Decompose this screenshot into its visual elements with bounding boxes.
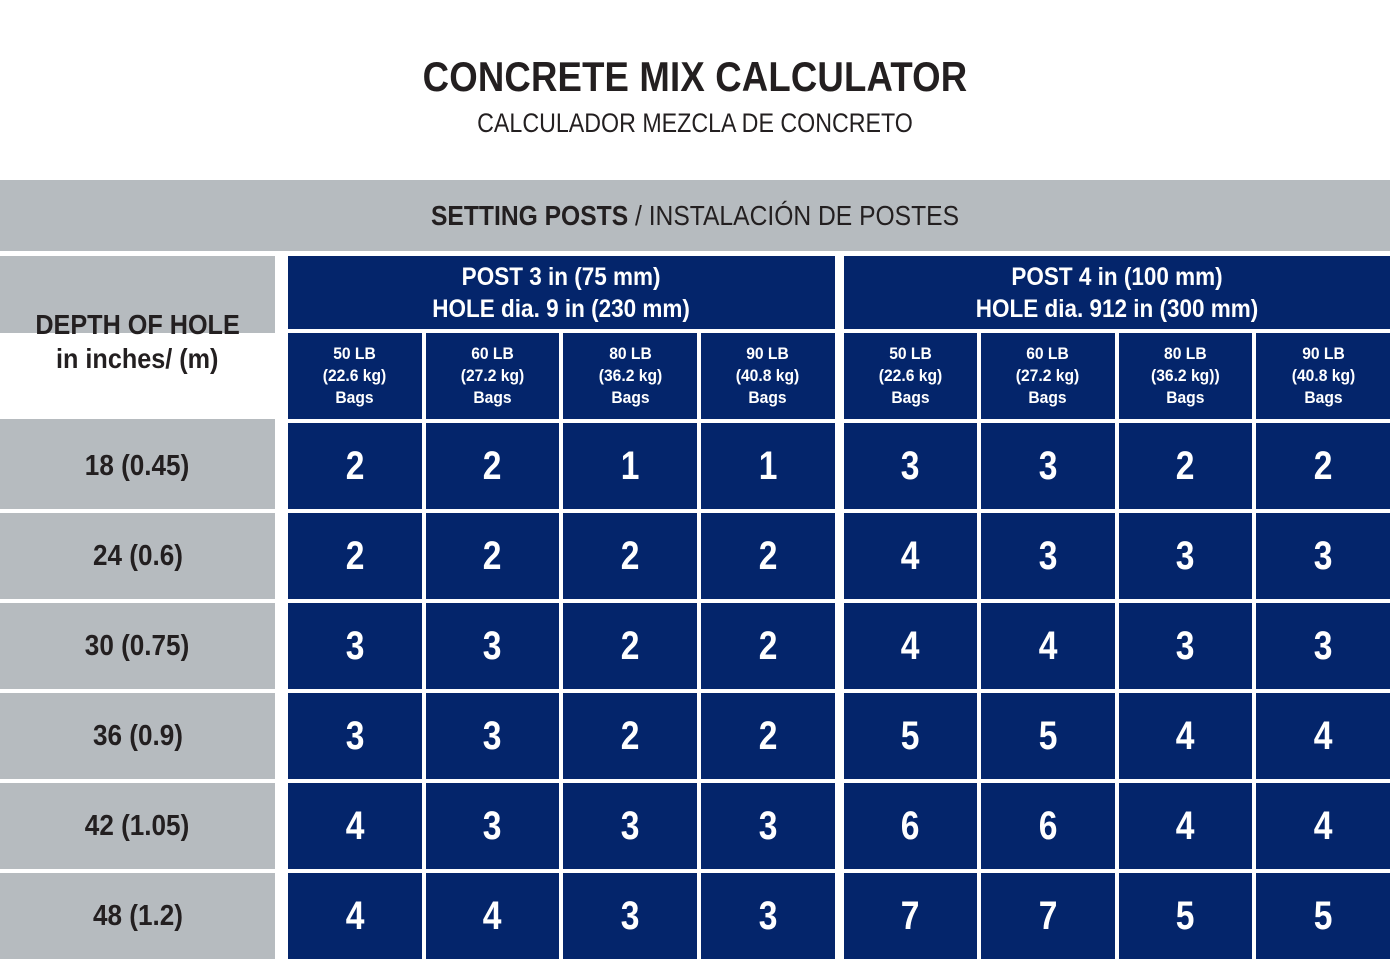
posts-table: DEPTH OF HOLE in inches/ (m) POST 3 in (…	[0, 256, 1390, 963]
group-post4-title-line1: POST 4 in (100 mm)	[975, 261, 1258, 293]
column-header-post4-60lb-unit: Bags	[1016, 387, 1079, 409]
group-title-container: POST 3 in (75 mm) HOLE dia. 9 in (230 mm…	[275, 256, 1390, 329]
table-row: 24 (0.6) 2 2 2 2 4 3 3 3	[0, 513, 1390, 599]
row-48-post3: 4 4 3 3	[288, 873, 835, 959]
group-post3-bag-headers: 50 LB (22.6 kg) Bags 60 LB (27.2 kg) Bag…	[288, 333, 835, 419]
concrete-mix-calculator-page: CONCRETE MIX CALCULATOR CALCULADOR MEZCL…	[0, 0, 1390, 966]
cell-42-post3-90lb: 3	[701, 783, 835, 869]
page-header: CONCRETE MIX CALCULATOR CALCULADOR MEZCL…	[0, 0, 1390, 137]
table-row: 18 (0.45) 2 2 1 1 3 3 2 2	[0, 423, 1390, 509]
column-header-post4-90lb-unit: Bags	[1291, 387, 1354, 409]
cell-24-post4-90lb: 3	[1256, 513, 1390, 599]
column-header-post3-90lb-unit: Bags	[736, 387, 799, 409]
column-header-post3-80lb-metric: (36.2 kg)	[598, 365, 661, 387]
page-title: CONCRETE MIX CALCULATOR	[90, 56, 1299, 98]
column-header-post4-80lb-unit: Bags	[1151, 387, 1220, 409]
cell-30-post4-60lb: 4	[981, 603, 1115, 689]
cell-18-post3-80lb: 1	[563, 423, 697, 509]
cell-24-post3-80lb: 2	[563, 513, 697, 599]
column-header-post3-80lb-unit: Bags	[598, 387, 661, 409]
row-label-18: 18 (0.45)	[0, 423, 275, 509]
table-row: 48 (1.2) 4 4 3 3 7 7 5 5	[0, 873, 1390, 959]
section-title-es: INSTALACIÓN DE POSTES	[649, 200, 959, 231]
cell-48-post3-90lb: 3	[701, 873, 835, 959]
cell-36-post4-80lb: 4	[1119, 693, 1253, 779]
cell-42-post4-50lb: 6	[844, 783, 978, 869]
cell-48-post4-90lb: 5	[1256, 873, 1390, 959]
column-header-post3-50lb: 50 LB (22.6 kg) Bags	[288, 333, 422, 419]
cell-48-post4-60lb: 7	[981, 873, 1115, 959]
column-header-post3-50lb-weight: 50 LB	[323, 343, 386, 365]
row-48-post4: 7 7 5 5	[844, 873, 1390, 959]
row-36-post3: 3 3 2 2	[288, 693, 835, 779]
cell-30-post3-80lb: 2	[563, 603, 697, 689]
cell-18-post4-80lb: 2	[1119, 423, 1253, 509]
row-24-post3: 2 2 2 2	[288, 513, 835, 599]
stub-header-line2: in inches/ (m)	[56, 342, 218, 376]
row-cells-42: 4 3 3 3 6 6 4 4	[275, 783, 1390, 869]
row-36-post4: 5 5 4 4	[844, 693, 1390, 779]
cell-42-post3-50lb: 4	[288, 783, 422, 869]
row-42-post3: 4 3 3 3	[288, 783, 835, 869]
row-label-36: 36 (0.9)	[0, 693, 275, 779]
cell-24-post4-50lb: 4	[844, 513, 978, 599]
group-post3-title-line1: POST 3 in (75 mm)	[432, 261, 690, 293]
group-post3-title: POST 3 in (75 mm) HOLE dia. 9 in (230 mm…	[432, 261, 690, 325]
table-row: 36 (0.9) 3 3 2 2 5 5 4 4	[0, 693, 1390, 779]
column-header-post3-50lb-metric: (22.6 kg)	[323, 365, 386, 387]
column-header-post3-80lb-weight: 80 LB	[598, 343, 661, 365]
column-header-post4-90lb: 90 LB (40.8 kg) Bags	[1256, 333, 1390, 419]
cell-18-post3-90lb: 1	[701, 423, 835, 509]
group-post3-title-line2: HOLE dia. 9 in (230 mm)	[432, 293, 690, 325]
cell-30-post3-60lb: 3	[426, 603, 560, 689]
column-header-post4-90lb-metric: (40.8 kg)	[1291, 365, 1354, 387]
cell-48-post3-60lb: 4	[426, 873, 560, 959]
column-header-post4-50lb: 50 LB (22.6 kg) Bags	[844, 333, 978, 419]
column-header-post4-90lb-weight: 90 LB	[1291, 343, 1354, 365]
cell-18-post4-90lb: 2	[1256, 423, 1390, 509]
cell-36-post4-60lb: 5	[981, 693, 1115, 779]
column-header-post4-60lb: 60 LB (27.2 kg) Bags	[981, 333, 1115, 419]
cell-30-post4-80lb: 3	[1119, 603, 1253, 689]
section-title-separator: /	[628, 200, 649, 231]
row-18-post3: 2 2 1 1	[288, 423, 835, 509]
stub-header-line1: DEPTH OF HOLE	[35, 308, 239, 342]
cell-36-post3-90lb: 2	[701, 693, 835, 779]
column-header-post3-80lb: 80 LB (36.2 kg) Bags	[563, 333, 697, 419]
column-header-post4-80lb: 80 LB (36.2 kg)) Bags	[1119, 333, 1253, 419]
cell-48-post3-80lb: 3	[563, 873, 697, 959]
cell-36-post3-60lb: 3	[426, 693, 560, 779]
cell-42-post4-90lb: 4	[1256, 783, 1390, 869]
cell-30-post4-50lb: 4	[844, 603, 978, 689]
cell-42-post3-60lb: 3	[426, 783, 560, 869]
column-header-post3-60lb: 60 LB (27.2 kg) Bags	[426, 333, 560, 419]
group-post4: POST 4 in (100 mm) HOLE dia. 912 in (300…	[844, 256, 1390, 329]
row-42-post4: 6 6 4 4	[844, 783, 1390, 869]
cell-30-post3-50lb: 3	[288, 603, 422, 689]
column-header-post4-80lb-metric: (36.2 kg))	[1151, 365, 1220, 387]
row-cells-24: 2 2 2 2 4 3 3 3	[275, 513, 1390, 599]
column-header-post4-50lb-unit: Bags	[879, 387, 942, 409]
row-18-post4: 3 3 2 2	[844, 423, 1390, 509]
cell-18-post4-50lb: 3	[844, 423, 978, 509]
column-header-post3-60lb-metric: (27.2 kg)	[461, 365, 524, 387]
cell-42-post4-60lb: 6	[981, 783, 1115, 869]
row-label-24: 24 (0.6)	[0, 513, 275, 599]
cell-48-post4-80lb: 5	[1119, 873, 1253, 959]
cell-18-post3-50lb: 2	[288, 423, 422, 509]
column-header-post3-90lb-weight: 90 LB	[736, 343, 799, 365]
row-30-post4: 4 4 3 3	[844, 603, 1390, 689]
row-label-42: 42 (1.05)	[0, 783, 275, 869]
section-band: SETTING POSTS / INSTALACIÓN DE POSTES	[0, 180, 1390, 251]
page-subtitle: CALCULADOR MEZCLA DE CONCRETO	[97, 110, 1292, 137]
column-header-post4-60lb-metric: (27.2 kg)	[1016, 365, 1079, 387]
column-header-post3-90lb: 90 LB (40.8 kg) Bags	[701, 333, 835, 419]
column-header-post3-60lb-unit: Bags	[461, 387, 524, 409]
column-header-post3-90lb-metric: (40.8 kg)	[736, 365, 799, 387]
table-group-header-row: DEPTH OF HOLE in inches/ (m) POST 3 in (…	[0, 256, 1390, 329]
cell-24-post3-60lb: 2	[426, 513, 560, 599]
group-post4-bag-headers: 50 LB (22.6 kg) Bags 60 LB (27.2 kg) Bag…	[844, 333, 1390, 419]
column-header-post3-50lb-unit: Bags	[323, 387, 386, 409]
cell-24-post4-60lb: 3	[981, 513, 1115, 599]
row-cells-48: 4 4 3 3 7 7 5 5	[275, 873, 1390, 959]
cell-18-post4-60lb: 3	[981, 423, 1115, 509]
cell-24-post4-80lb: 3	[1119, 513, 1253, 599]
column-header-post3-60lb-weight: 60 LB	[461, 343, 524, 365]
cell-36-post4-50lb: 5	[844, 693, 978, 779]
cell-18-post3-60lb: 2	[426, 423, 560, 509]
row-24-post4: 4 3 3 3	[844, 513, 1390, 599]
section-title-en: SETTING POSTS	[431, 200, 628, 231]
cell-36-post4-90lb: 4	[1256, 693, 1390, 779]
row-label-30: 30 (0.75)	[0, 603, 275, 689]
cell-24-post3-90lb: 2	[701, 513, 835, 599]
row-30-post3: 3 3 2 2	[288, 603, 835, 689]
row-cells-30: 3 3 2 2 4 4 3 3	[275, 603, 1390, 689]
column-header-post4-50lb-metric: (22.6 kg)	[879, 365, 942, 387]
bag-header-container: 50 LB (22.6 kg) Bags 60 LB (27.2 kg) Bag…	[275, 333, 1390, 419]
cell-30-post3-90lb: 2	[701, 603, 835, 689]
table-row: 30 (0.75) 3 3 2 2 4 4 3 3	[0, 603, 1390, 689]
group-post3: POST 3 in (75 mm) HOLE dia. 9 in (230 mm…	[288, 256, 835, 329]
cell-42-post3-80lb: 3	[563, 783, 697, 869]
column-header-post4-50lb-weight: 50 LB	[879, 343, 942, 365]
cell-36-post3-80lb: 2	[563, 693, 697, 779]
group-post4-title: POST 4 in (100 mm) HOLE dia. 912 in (300…	[975, 261, 1258, 325]
cell-36-post3-50lb: 3	[288, 693, 422, 779]
row-cells-36: 3 3 2 2 5 5 4 4	[275, 693, 1390, 779]
cell-30-post4-90lb: 3	[1256, 603, 1390, 689]
column-header-post4-60lb-weight: 60 LB	[1016, 343, 1079, 365]
column-header-post4-80lb-weight: 80 LB	[1151, 343, 1220, 365]
group-post4-title-cell: POST 4 in (100 mm) HOLE dia. 912 in (300…	[844, 256, 1390, 329]
row-label-48: 48 (1.2)	[0, 873, 275, 959]
table-row: 42 (1.05) 4 3 3 3 6 6 4 4	[0, 783, 1390, 869]
cell-42-post4-80lb: 4	[1119, 783, 1253, 869]
group-post3-title-cell: POST 3 in (75 mm) HOLE dia. 9 in (230 mm…	[288, 256, 835, 329]
cell-48-post4-50lb: 7	[844, 873, 978, 959]
row-cells-18: 2 2 1 1 3 3 2 2	[275, 423, 1390, 509]
section-band-text: SETTING POSTS / INSTALACIÓN DE POSTES	[431, 202, 959, 230]
cell-48-post3-50lb: 4	[288, 873, 422, 959]
cell-24-post3-50lb: 2	[288, 513, 422, 599]
group-post4-title-line2: HOLE dia. 912 in (300 mm)	[975, 293, 1258, 325]
